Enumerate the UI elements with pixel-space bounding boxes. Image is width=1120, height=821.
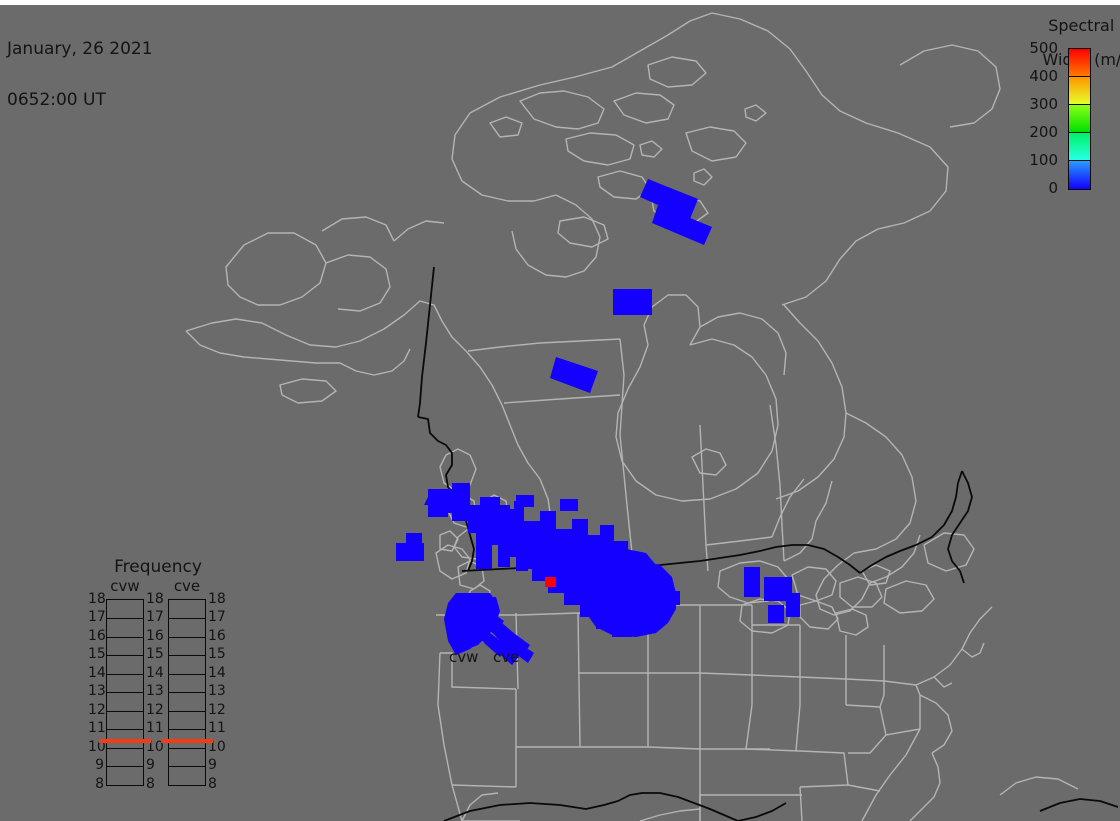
colorbar-segment-0-100 <box>1069 161 1090 189</box>
timestamp-time: 0652:00 UT <box>7 92 153 109</box>
freq-tick-right-14: 14 <box>208 666 224 680</box>
freq-div-cvw-14 <box>107 674 143 675</box>
freq-tick-mid-13: 13 <box>146 684 162 698</box>
spectral-width-colorbar: Spectral Width (m/s) 500 400 300 200 100… <box>1012 0 1120 200</box>
frequency-ticks-left: 18 17 16 15 14 13 12 11 10 9 8 <box>88 599 104 786</box>
freq-div-cvw-10 <box>107 748 143 749</box>
frequency-marker-cvw <box>99 739 151 743</box>
colorbar-tick-300: 300 <box>1029 97 1058 112</box>
freq-div-cve-10 <box>169 748 205 749</box>
freq-div-cve-14 <box>169 674 205 675</box>
colorbar-tick-labels: 500 400 300 200 100 0 <box>1012 48 1062 189</box>
freq-tick-right-9: 9 <box>208 758 224 772</box>
freq-tick-mid-9: 9 <box>146 758 162 772</box>
radar-fan-highlight-cell[interactable] <box>545 577 556 587</box>
colorbar-segment-200-300 <box>1069 105 1090 133</box>
colorbar-segment-100-200 <box>1069 133 1090 161</box>
colorbar-tick-200: 200 <box>1029 125 1058 140</box>
map-station-label-cvw: cvw <box>449 650 478 665</box>
freq-tick-right-17: 17 <box>208 610 224 624</box>
freq-tick-left-13: 13 <box>88 684 104 698</box>
frequency-bar-cvw[interactable] <box>106 599 144 786</box>
colorbar-segment-400-500 <box>1069 49 1090 77</box>
freq-tick-left-11: 11 <box>88 721 104 735</box>
freq-tick-left-16: 16 <box>88 629 104 643</box>
colorbar-tick-100: 100 <box>1029 153 1058 168</box>
fan-plot-page: cvw cve January, 26 2021 0652:00 UT Spec… <box>0 0 1120 821</box>
freq-div-cve-9 <box>169 766 205 767</box>
freq-tick-right-16: 16 <box>208 629 224 643</box>
freq-div-cvw-17 <box>107 618 143 619</box>
freq-div-cve-16 <box>169 637 205 638</box>
freq-tick-left-12: 12 <box>88 703 104 717</box>
freq-div-cve-15 <box>169 655 205 656</box>
frequency-column-label-cvw: cvw <box>106 579 144 594</box>
freq-div-cvw-13 <box>107 692 143 693</box>
frequency-bar-cve[interactable] <box>168 599 206 786</box>
freq-tick-right-18: 18 <box>208 592 224 606</box>
freq-tick-mid-17: 17 <box>146 610 162 624</box>
colorbar-title-line1: Spectral <box>1048 16 1114 35</box>
freq-div-cvw-16 <box>107 637 143 638</box>
freq-tick-left-14: 14 <box>88 666 104 680</box>
colorbar-segment-300-400 <box>1069 77 1090 105</box>
freq-tick-mid-15: 15 <box>146 647 162 661</box>
freq-div-cvw-12 <box>107 711 143 712</box>
frequency-column-label-cve: cve <box>168 579 206 594</box>
colorbar-gradient-bar[interactable] <box>1068 48 1091 190</box>
colorbar-tick-0: 0 <box>1048 181 1058 196</box>
map-station-label-cve: cve <box>493 650 519 665</box>
freq-div-cve-13 <box>169 692 205 693</box>
frequency-ticks-right: 18 17 16 15 14 13 12 11 10 9 8 <box>208 599 224 786</box>
freq-div-cvw-15 <box>107 655 143 656</box>
colorbar-tick-500: 500 <box>1029 41 1058 56</box>
freq-div-cve-11 <box>169 729 205 730</box>
timestamp-overlay: January, 26 2021 0652:00 UT <box>7 7 153 143</box>
freq-tick-right-15: 15 <box>208 647 224 661</box>
freq-tick-left-18: 18 <box>88 592 104 606</box>
freq-tick-mid-11: 11 <box>146 721 162 735</box>
frequency-legend: Frequency cvw cve 18 17 16 15 14 13 12 1… <box>88 558 228 784</box>
freq-div-cvw-9 <box>107 766 143 767</box>
freq-tick-left-9: 9 <box>88 758 104 772</box>
freq-tick-right-12: 12 <box>208 703 224 717</box>
freq-tick-right-13: 13 <box>208 684 224 698</box>
freq-tick-left-17: 17 <box>88 610 104 624</box>
freq-tick-mid-8: 8 <box>146 777 162 791</box>
freq-tick-mid-12: 12 <box>146 703 162 717</box>
freq-tick-left-8: 8 <box>88 777 104 791</box>
freq-tick-mid-16: 16 <box>146 629 162 643</box>
frequency-legend-title: Frequency <box>88 558 228 576</box>
frequency-marker-cve <box>161 739 213 743</box>
freq-tick-left-15: 15 <box>88 647 104 661</box>
freq-tick-mid-18: 18 <box>146 592 162 606</box>
freq-div-cve-12 <box>169 711 205 712</box>
freq-div-cve-17 <box>169 618 205 619</box>
freq-tick-right-11: 11 <box>208 721 224 735</box>
timestamp-date: January, 26 2021 <box>7 41 153 58</box>
freq-tick-right-8: 8 <box>208 777 224 791</box>
freq-div-cvw-11 <box>107 729 143 730</box>
freq-tick-mid-14: 14 <box>146 666 162 680</box>
frequency-ticks-middle: 18 17 16 15 14 13 12 11 10 9 8 <box>146 599 162 786</box>
colorbar-tick-400: 400 <box>1029 69 1058 84</box>
